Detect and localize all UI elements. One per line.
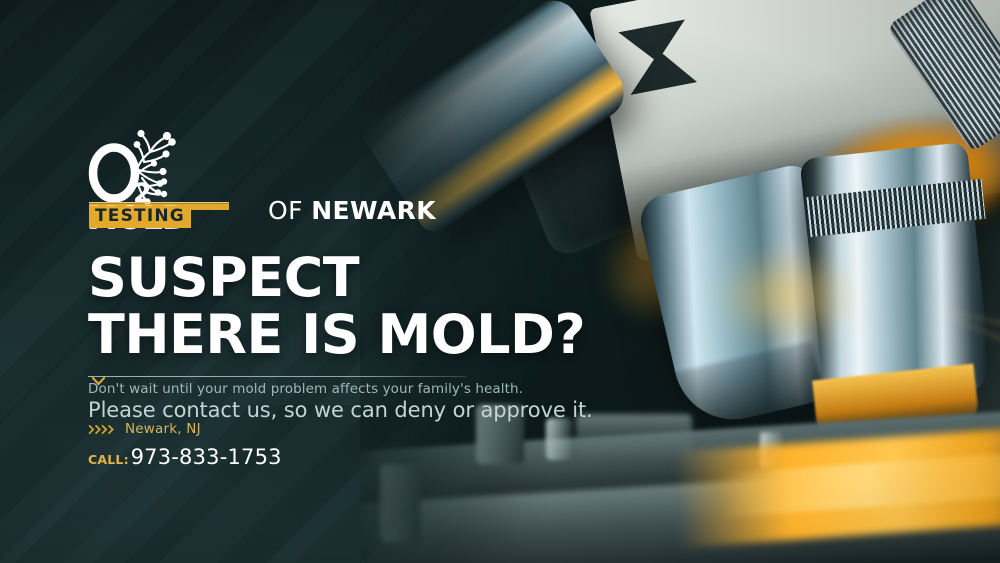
brand-suffix: OF NEWARK	[268, 196, 436, 225]
brand-city-word: NEWARK	[311, 196, 436, 225]
headline-line-1: SUSPECT	[88, 250, 585, 307]
chevron-right-quad-icon	[88, 424, 118, 435]
promo-banner: 2 MOLD OF NEWARK TESTING SUSPECT THERE I…	[0, 0, 1000, 563]
subheading-text: Don't wait until your mold problem affec…	[88, 381, 523, 397]
headline-line-2: THERE IS MOLD?	[88, 307, 585, 364]
page-title: SUSPECT THERE IS MOLD?	[88, 250, 585, 363]
call-label: CALL	[88, 452, 124, 467]
location-row: Newark, NJ	[88, 421, 201, 437]
logo-testing-label: TESTING	[95, 208, 185, 225]
lead-text: Please contact us, so we can deny or app…	[88, 398, 593, 422]
location-label: Newark, NJ	[125, 421, 201, 437]
phone-number[interactable]: 973-833-1753	[131, 445, 282, 469]
brand-of-word: OF	[268, 196, 303, 225]
logo-testing-badge: TESTING	[89, 206, 191, 228]
call-colon: :	[124, 452, 129, 467]
phone-row[interactable]: CALL : 973-833-1753	[88, 445, 282, 469]
divider-line	[88, 376, 466, 377]
banner-content: 2 MOLD OF NEWARK TESTING SUSPECT THERE I…	[86, 0, 556, 563]
